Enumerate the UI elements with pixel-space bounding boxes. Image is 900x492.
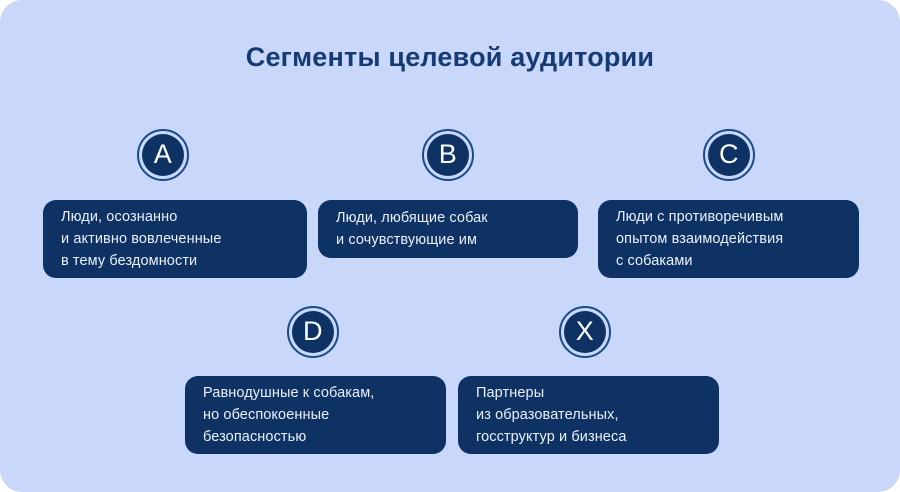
badge-letter-a: A [154, 141, 173, 169]
segment-card-b-text: Люди, любящие собак и сочувствующие им [318, 207, 506, 251]
segment-card-d[interactable]: Равнодушные к собакам, но обеспокоенные … [185, 376, 446, 454]
badge-letter-x: X [576, 318, 595, 346]
badge-circle-x: X [559, 306, 611, 358]
badge-circle-c: C [703, 129, 755, 181]
segment-card-c-text: Люди с противоречивым опытом взаимодейст… [598, 206, 801, 272]
segment-card-x-text: Партнеры из образовательных, госструктур… [458, 382, 644, 448]
slide-canvas: Сегменты целевой аудитории A Люди, осозн… [0, 0, 900, 492]
segment-card-c[interactable]: Люди с противоречивым опытом взаимодейст… [598, 200, 859, 278]
badge-circle-d: D [287, 306, 339, 358]
segment-card-a[interactable]: Люди, осознанно и активно вовлеченные в … [43, 200, 307, 278]
badge-letter-d: D [303, 318, 323, 346]
badge-circle-a: A [137, 129, 189, 181]
page-title: Сегменты целевой аудитории [0, 42, 900, 73]
badge-inner-a: A [142, 134, 184, 176]
badge-inner-c: C [708, 134, 750, 176]
segment-card-b[interactable]: Люди, любящие собак и сочувствующие им [318, 200, 578, 258]
badge-circle-b: B [422, 129, 474, 181]
badge-letter-c: C [719, 141, 739, 169]
badge-inner-x: X [564, 311, 606, 353]
segment-card-x[interactable]: Партнеры из образовательных, госструктур… [458, 376, 719, 454]
segment-card-d-text: Равнодушные к собакам, но обеспокоенные … [185, 382, 392, 448]
segment-card-a-text: Люди, осознанно и активно вовлеченные в … [43, 206, 239, 272]
badge-inner-b: B [427, 134, 469, 176]
badge-inner-d: D [292, 311, 334, 353]
badge-letter-b: B [439, 141, 458, 169]
